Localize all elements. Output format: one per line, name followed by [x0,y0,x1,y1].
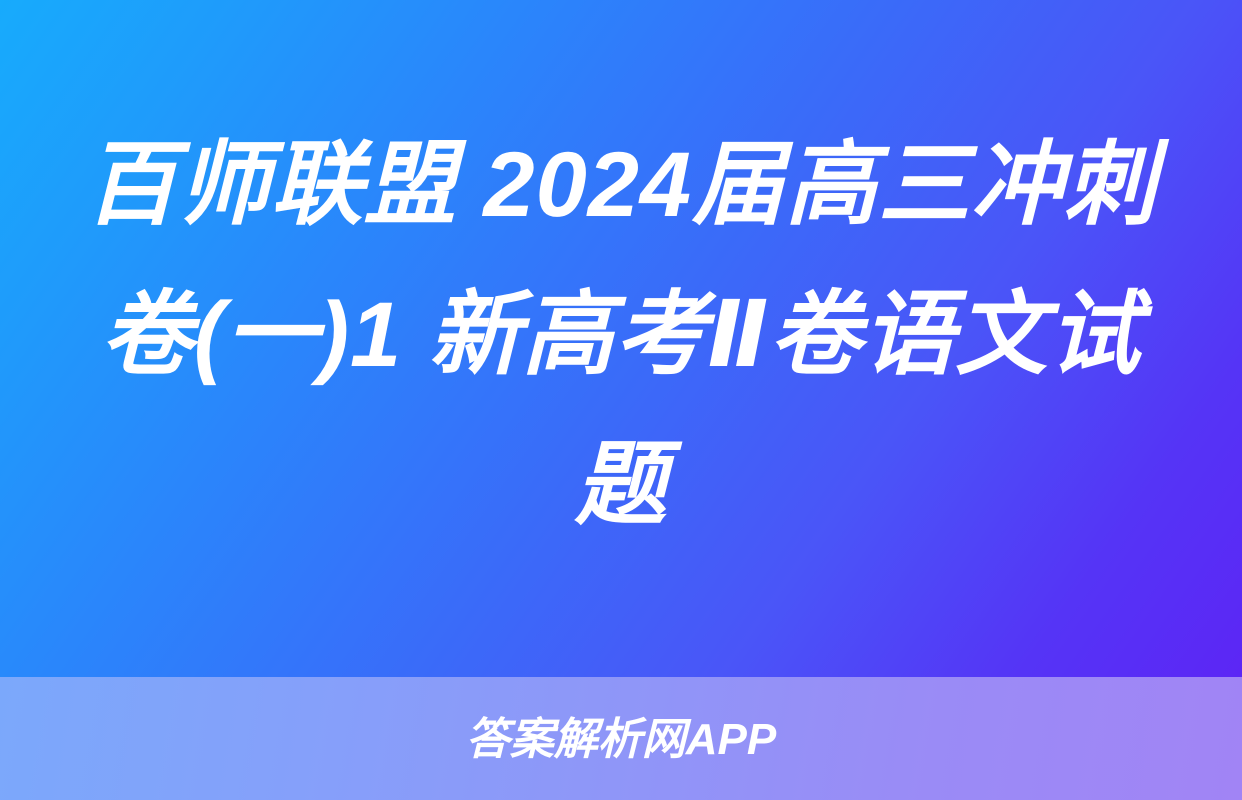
page-title: 百师联盟 2024届高三冲刺卷(一)1 新高考Ⅱ卷语文试题 [71,110,1171,560]
hero-gradient-panel: 百师联盟 2024届高三冲刺卷(一)1 新高考Ⅱ卷语文试题 [0,0,1242,677]
watermark-label: 答案解析网APP [466,718,776,762]
poster-card: 百师联盟 2024届高三冲刺卷(一)1 新高考Ⅱ卷语文试题 答案解析网APP [0,0,1242,800]
watermark-band: 答案解析网APP [0,677,1242,800]
